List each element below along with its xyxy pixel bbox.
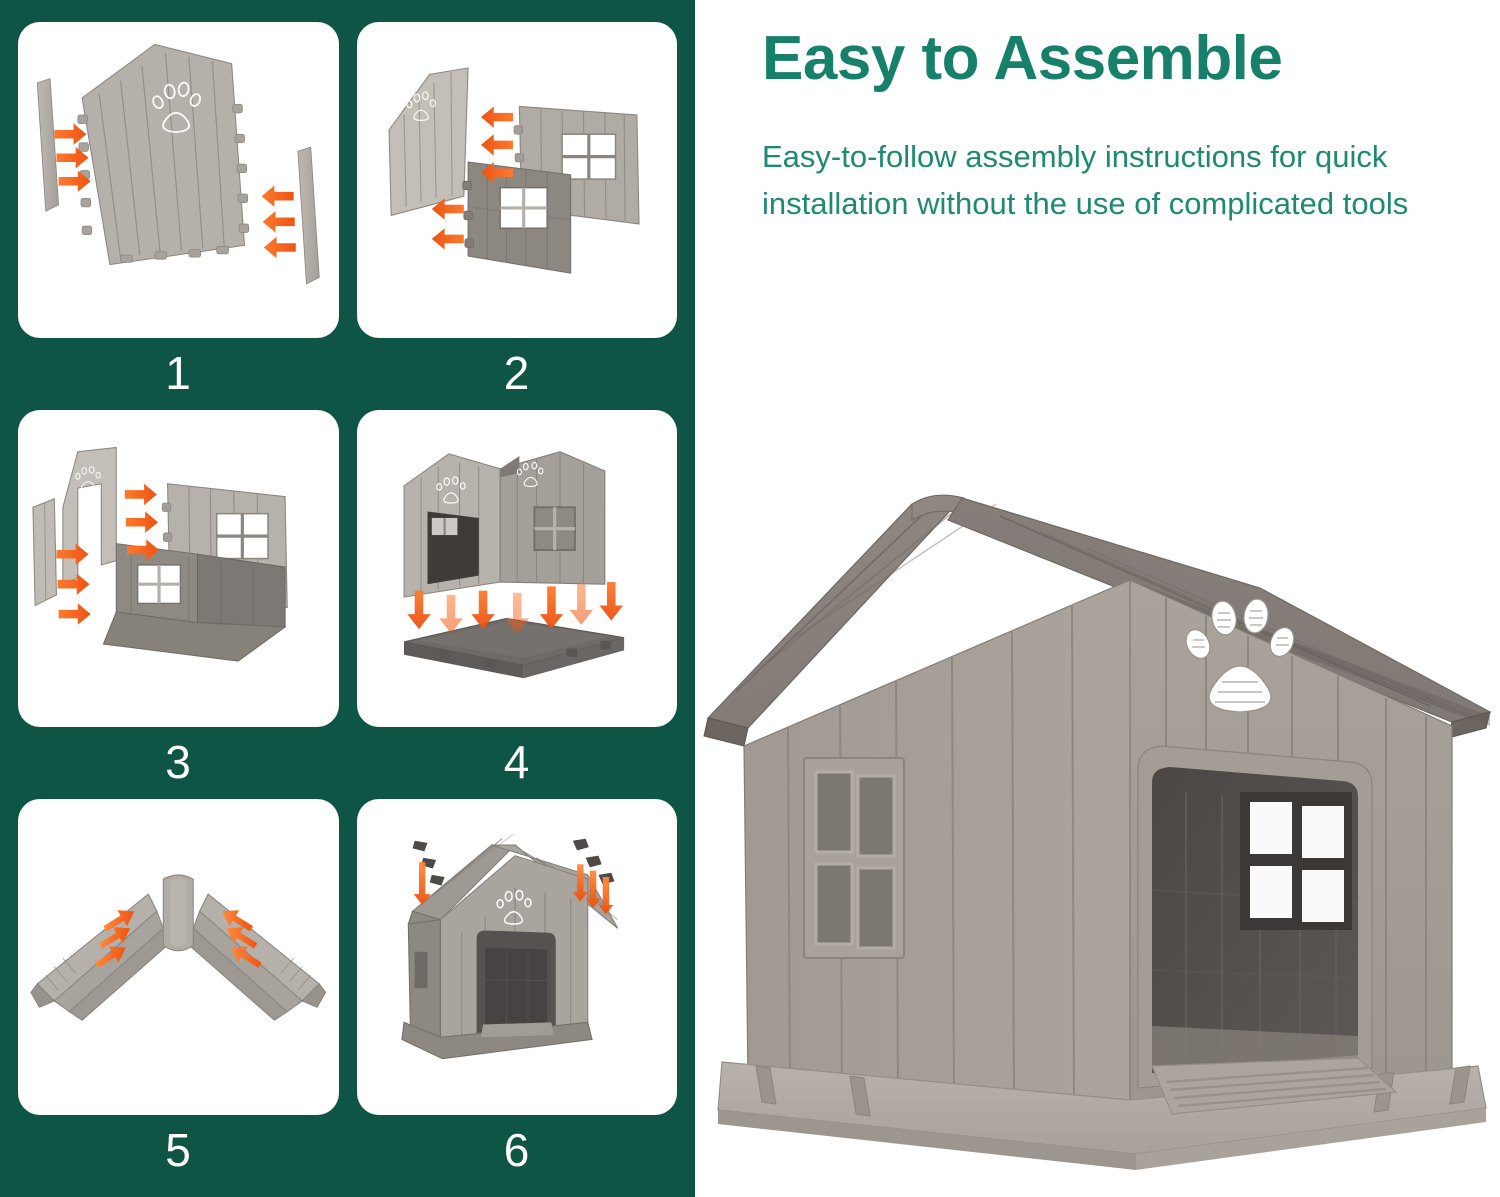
- roof-panel-left: [31, 894, 170, 1020]
- product-hero-image: [700, 470, 1500, 1190]
- front-gable-wall: [63, 448, 116, 585]
- step-card-3[interactable]: [18, 410, 339, 726]
- window-opening: [534, 508, 575, 551]
- step-card-4[interactable]: [357, 410, 678, 726]
- left-batten: [37, 79, 58, 211]
- ridge-cap: [163, 875, 193, 951]
- arrow-group-lower: [56, 544, 90, 625]
- step-5-illustration: [18, 799, 339, 1115]
- assembly-steps-panel: 1: [0, 0, 695, 1197]
- left-gable-wall: [389, 68, 468, 215]
- step-card-1[interactable]: [18, 22, 339, 338]
- step-1-illustration: [18, 22, 339, 338]
- step-cell-4: 4: [357, 410, 678, 798]
- step-card-2[interactable]: [357, 22, 678, 338]
- step-cell-5: 5: [18, 799, 339, 1187]
- step-cell-1: 1: [18, 22, 339, 410]
- arrow-group-left: [54, 124, 90, 192]
- front-wall-with-window: [462, 162, 570, 273]
- front-gable-wall: [1130, 580, 1452, 1110]
- step-2-illustration: [357, 22, 678, 338]
- step-cell-6: 6: [357, 799, 678, 1187]
- step-card-5[interactable]: [18, 799, 339, 1115]
- step-number-5: 5: [18, 1115, 339, 1187]
- window-opening: [217, 514, 268, 559]
- step-number-1: 1: [18, 338, 339, 410]
- roof-panel-right: [187, 894, 326, 1020]
- loose-side-wall: [33, 499, 57, 606]
- arrow-group-upper: [125, 484, 159, 561]
- doorway-opening: [1138, 746, 1372, 1088]
- step-number-3: 3: [18, 727, 339, 799]
- arrow-group-upper: [480, 106, 512, 183]
- step-3-illustration: [18, 410, 339, 726]
- step-card-6[interactable]: [357, 799, 678, 1115]
- window-opening: [138, 565, 181, 603]
- screw-group-left: [412, 840, 444, 885]
- step-6-illustration: [357, 799, 678, 1115]
- arrow-group-lower: [431, 198, 463, 249]
- step-number-2: 2: [357, 338, 678, 410]
- step-number-6: 6: [357, 1115, 678, 1187]
- step-cell-3: 3: [18, 410, 339, 798]
- marketing-copy-block: Easy to Assemble Easy-to-follow assembly…: [762, 26, 1462, 227]
- side-window: [804, 758, 904, 958]
- step-cell-2: 2: [357, 22, 678, 410]
- step-row-3: 5: [18, 799, 677, 1187]
- step-row-1: 1: [18, 22, 677, 410]
- window-opening: [500, 188, 547, 229]
- page-title: Easy to Assemble: [762, 26, 1462, 91]
- step-row-2: 3: [18, 410, 677, 798]
- right-batten: [298, 147, 319, 284]
- step-number-4: 4: [357, 727, 678, 799]
- window-opening: [562, 134, 615, 179]
- wall-box-assembly: [404, 452, 605, 597]
- interior-window: [1240, 792, 1352, 930]
- arrow-group-right: [262, 186, 296, 259]
- left-side-wall: [408, 919, 440, 1041]
- step-4-illustration: [357, 410, 678, 726]
- subtitle-text: Easy-to-follow assembly instructions for…: [762, 133, 1452, 227]
- front-gable-panel: [78, 44, 249, 264]
